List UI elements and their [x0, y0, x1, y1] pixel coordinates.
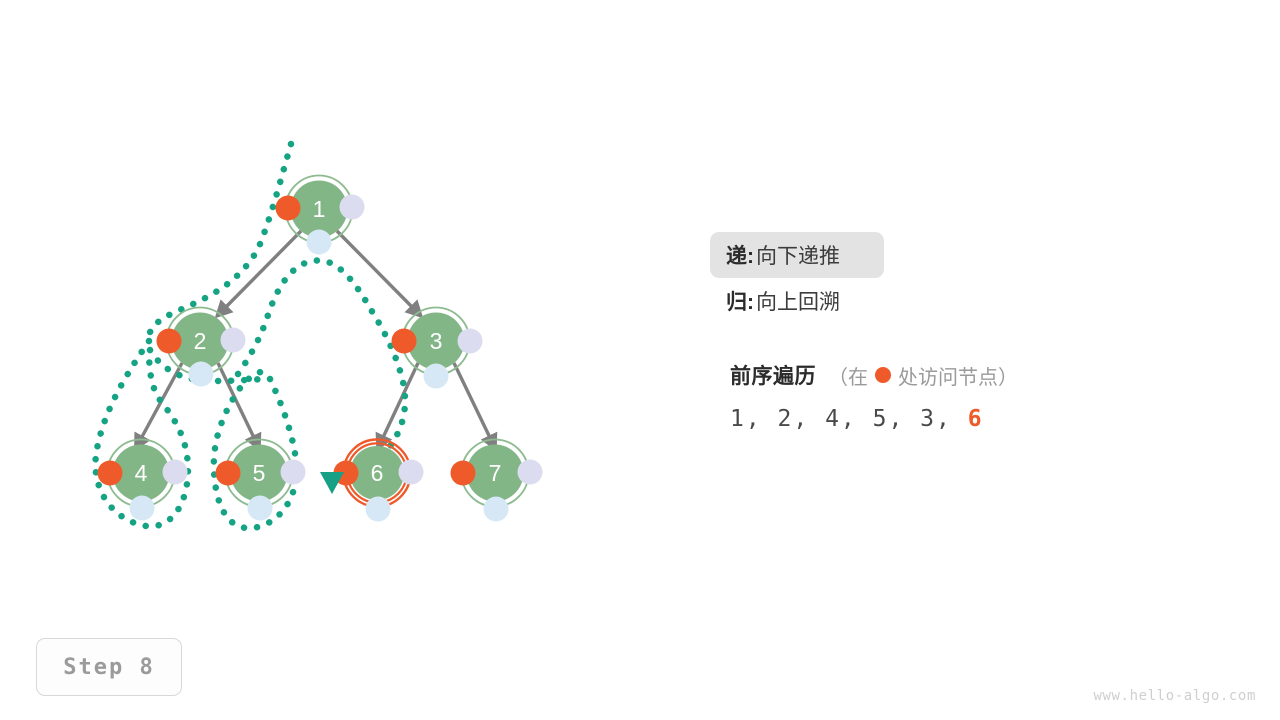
- traversal-order-block: 前序遍历 （在 处访问节点） 1, 2, 4, 5, 3, 6: [730, 358, 1250, 432]
- legend-descend-key: 递:: [726, 240, 754, 270]
- legend-return-value: 向上回溯: [756, 286, 840, 316]
- node-5-bottom-dot: [248, 496, 273, 521]
- visit-dot-icon: [875, 367, 891, 383]
- node-6-right-dot: [399, 460, 424, 485]
- node-1-right-dot: [340, 195, 365, 220]
- node-3-bottom-dot: [424, 364, 449, 389]
- legend-return-key: 归:: [726, 286, 754, 316]
- node-3-label: 3: [430, 328, 443, 354]
- traversal-note-prefix: （在: [828, 361, 868, 390]
- node-2-visit-dot: [157, 329, 182, 354]
- node-1-label: 1: [313, 196, 326, 222]
- tree-node-2[interactable]: 2: [157, 308, 246, 387]
- node-3-visit-dot: [392, 329, 417, 354]
- traversal-sequence-visited: 1, 2, 4, 5, 3,: [730, 406, 952, 432]
- node-4-bottom-dot: [130, 496, 155, 521]
- node-6-bottom-dot: [366, 497, 391, 522]
- traversal-sequence-current: 6: [968, 406, 984, 432]
- path-back-to-root-and-down-to-6: [238, 261, 405, 458]
- edge-3-7: [454, 363, 494, 446]
- node-7-right-dot: [518, 460, 543, 485]
- node-3-right-dot: [458, 329, 483, 354]
- node-7-visit-dot: [451, 461, 476, 486]
- edge-1-3: [337, 231, 419, 314]
- node-1-visit-dot: [276, 196, 301, 221]
- node-2-label: 2: [194, 328, 207, 354]
- traversal-title-row: 前序遍历 （在 处访问节点）: [730, 358, 1250, 392]
- tree-node-3[interactable]: 3: [392, 308, 483, 389]
- node-4-label: 4: [135, 460, 148, 486]
- node-1-bottom-dot: [307, 230, 332, 255]
- node-6-label: 6: [371, 460, 384, 486]
- tree-nodes: 1 2 3 4: [98, 176, 543, 522]
- legend-row-return: 归: 向上回溯: [710, 278, 1246, 324]
- node-2-bottom-dot: [189, 362, 214, 387]
- tree-node-5[interactable]: 5: [216, 440, 306, 521]
- node-5-visit-dot: [216, 461, 241, 486]
- legend-row-descend: 递: 向下递推: [710, 232, 884, 278]
- traversal-note-suffix: 处访问节点）: [898, 361, 1018, 390]
- edge-2-4: [137, 363, 182, 446]
- recursion-legend: 递: 向下递推 归: 向上回溯: [726, 232, 1246, 324]
- tree-node-7[interactable]: 7: [451, 440, 543, 522]
- traversal-note: （在 处访问节点）: [828, 361, 1018, 390]
- traversal-sequence: 1, 2, 4, 5, 3, 6: [730, 406, 1250, 432]
- traversal-title: 前序遍历: [730, 360, 816, 390]
- watermark: www.hello-algo.com: [1093, 688, 1256, 704]
- node-4-visit-dot: [98, 461, 123, 486]
- node-5-right-dot: [281, 460, 306, 485]
- node-7-label: 7: [489, 460, 502, 486]
- legend-descend-value: 向下递推: [756, 240, 840, 270]
- step-badge: Step 8: [36, 638, 182, 696]
- node-7-bottom-dot: [484, 497, 509, 522]
- tree-node-6[interactable]: 6: [334, 440, 424, 522]
- node-2-right-dot: [221, 328, 246, 353]
- node-5-label: 5: [253, 460, 266, 486]
- node-4-right-dot: [163, 460, 188, 485]
